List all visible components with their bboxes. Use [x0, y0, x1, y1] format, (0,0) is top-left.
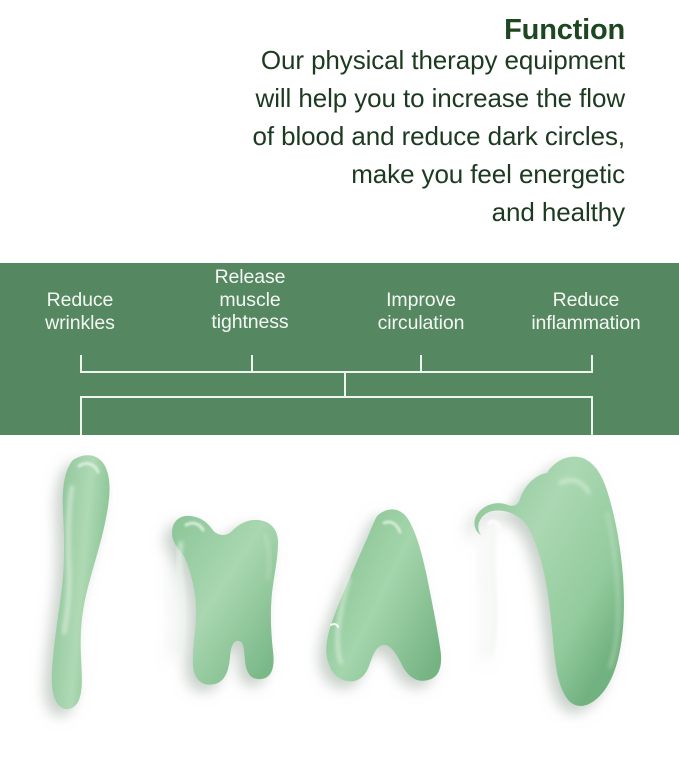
- benefit-line: tightness: [211, 311, 288, 334]
- description-line: and healthy: [155, 193, 625, 231]
- benefit-label-improve-circulation: Improve circulation: [378, 289, 465, 334]
- benefit-line: circulation: [378, 312, 465, 335]
- bracket-tick-improve-circulation: [420, 355, 422, 372]
- benefit-label-reduce-wrinkles: Reduce wrinkles: [45, 289, 115, 334]
- bracket-tick-release-muscle: [251, 355, 253, 372]
- benefit-line: inflammation: [531, 312, 640, 335]
- benefit-line: Release: [211, 266, 288, 289]
- benefit-line: wrinkles: [45, 312, 115, 335]
- gua-sha-stone-curved-blade: [52, 455, 110, 709]
- benefit-label-release-muscle-tightness: Release muscle tightness: [211, 266, 288, 334]
- benefit-label-reduce-inflammation: Reduce inflammation: [531, 289, 640, 334]
- benefit-line: muscle: [211, 289, 288, 312]
- bracket-bottom-right-arm: [591, 396, 593, 435]
- benefit-line: Reduce: [45, 289, 115, 312]
- description-line: will help you to increase the flow: [155, 79, 625, 117]
- bracket-bottom-rail: [80, 396, 593, 398]
- description-line: of blood and reduce dark circles,: [155, 117, 625, 155]
- gua-sha-stone-tooth-block: [172, 516, 278, 685]
- product-photo: [0, 435, 679, 767]
- benefit-line: Improve: [378, 289, 465, 312]
- function-description: Our physical therapy equipment will help…: [155, 41, 625, 231]
- gua-sha-stone-heart-tip: [326, 509, 441, 681]
- intro-section: Function Our physical therapy equipment …: [0, 0, 679, 263]
- description-line: make you feel energetic: [155, 155, 625, 193]
- description-line: Our physical therapy equipment: [155, 41, 625, 79]
- bracket-top-rail: [80, 371, 593, 373]
- gua-sha-stone-wing-blade: [474, 457, 623, 706]
- bracket-center-stem: [344, 372, 346, 397]
- bracket-bottom-left-arm: [80, 396, 82, 435]
- benefit-line: Reduce: [531, 289, 640, 312]
- bracket-tick-reduce-inflammation: [591, 355, 593, 372]
- bracket-tick-reduce-wrinkles: [80, 355, 82, 372]
- gua-sha-stone-group: [0, 435, 679, 767]
